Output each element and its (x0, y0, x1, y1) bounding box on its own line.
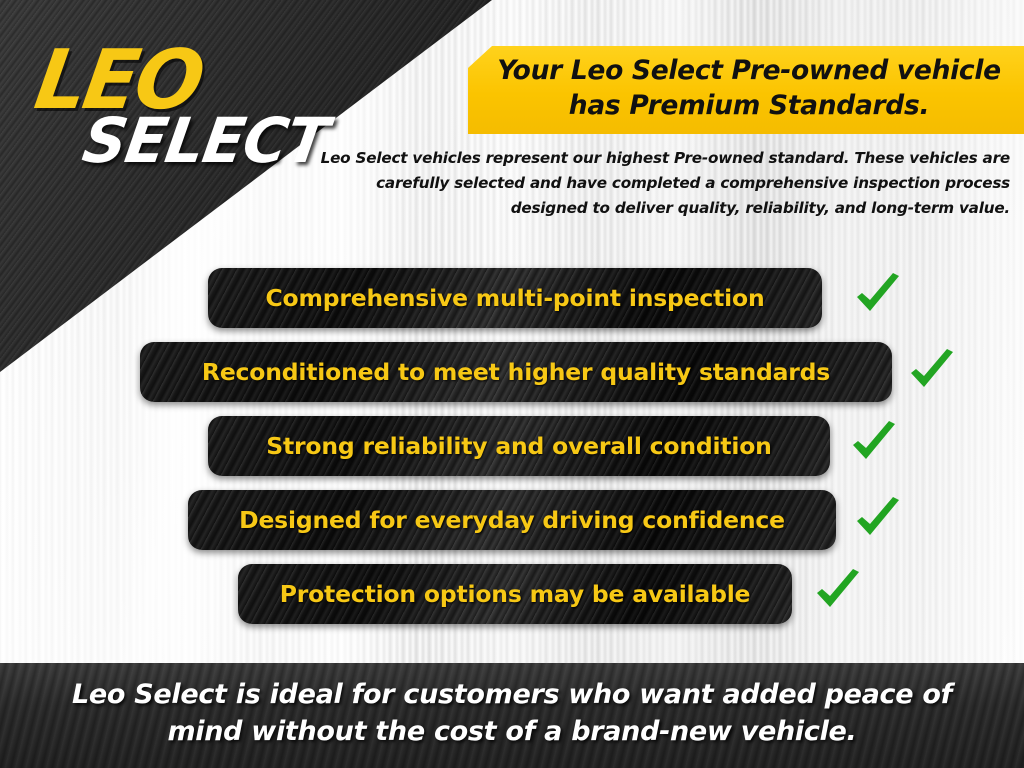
feature-row: Protection options may be available (0, 564, 1024, 638)
check-icon (906, 346, 958, 398)
feature-row: Strong reliability and overall condition (0, 416, 1024, 490)
headline-banner: Your Leo Select Pre-owned vehicle has Pr… (468, 46, 1024, 134)
feature-label: Designed for everyday driving confidence (239, 506, 785, 534)
feature-row: Reconditioned to meet higher quality sta… (0, 342, 1024, 416)
check-icon (852, 270, 904, 322)
headline-text: Your Leo Select Pre-owned vehicle has Pr… (468, 54, 1024, 126)
footer-text: Leo Select is ideal for customers who wa… (0, 677, 1024, 754)
feature-row: Comprehensive multi-point inspection (0, 268, 1024, 342)
leo-select-logo: LEO SELECT (34, 40, 334, 180)
feature-list: Comprehensive multi-point inspection Rec… (0, 268, 1024, 638)
feature-label: Reconditioned to meet higher quality sta… (202, 358, 830, 386)
logo-select-text: SELECT (79, 110, 332, 172)
feature-label: Strong reliability and overall condition (266, 432, 771, 460)
feature-pill: Strong reliability and overall condition (208, 416, 830, 476)
check-icon (812, 566, 864, 618)
feature-pill: Comprehensive multi-point inspection (208, 268, 822, 328)
feature-row: Designed for everyday driving confidence (0, 490, 1024, 564)
feature-label: Comprehensive multi-point inspection (265, 284, 764, 312)
feature-pill: Designed for everyday driving confidence (188, 490, 836, 550)
check-icon (848, 418, 900, 470)
intro-paragraph: Leo Select vehicles represent our highes… (300, 146, 1010, 220)
footer-bar: Leo Select is ideal for customers who wa… (0, 663, 1024, 768)
feature-pill: Reconditioned to meet higher quality sta… (140, 342, 892, 402)
feature-pill: Protection options may be available (238, 564, 792, 624)
leo-select-promo-poster: LEO SELECT Your Leo Select Pre-owned veh… (0, 0, 1024, 768)
check-icon (852, 494, 904, 546)
feature-label: Protection options may be available (280, 580, 751, 608)
